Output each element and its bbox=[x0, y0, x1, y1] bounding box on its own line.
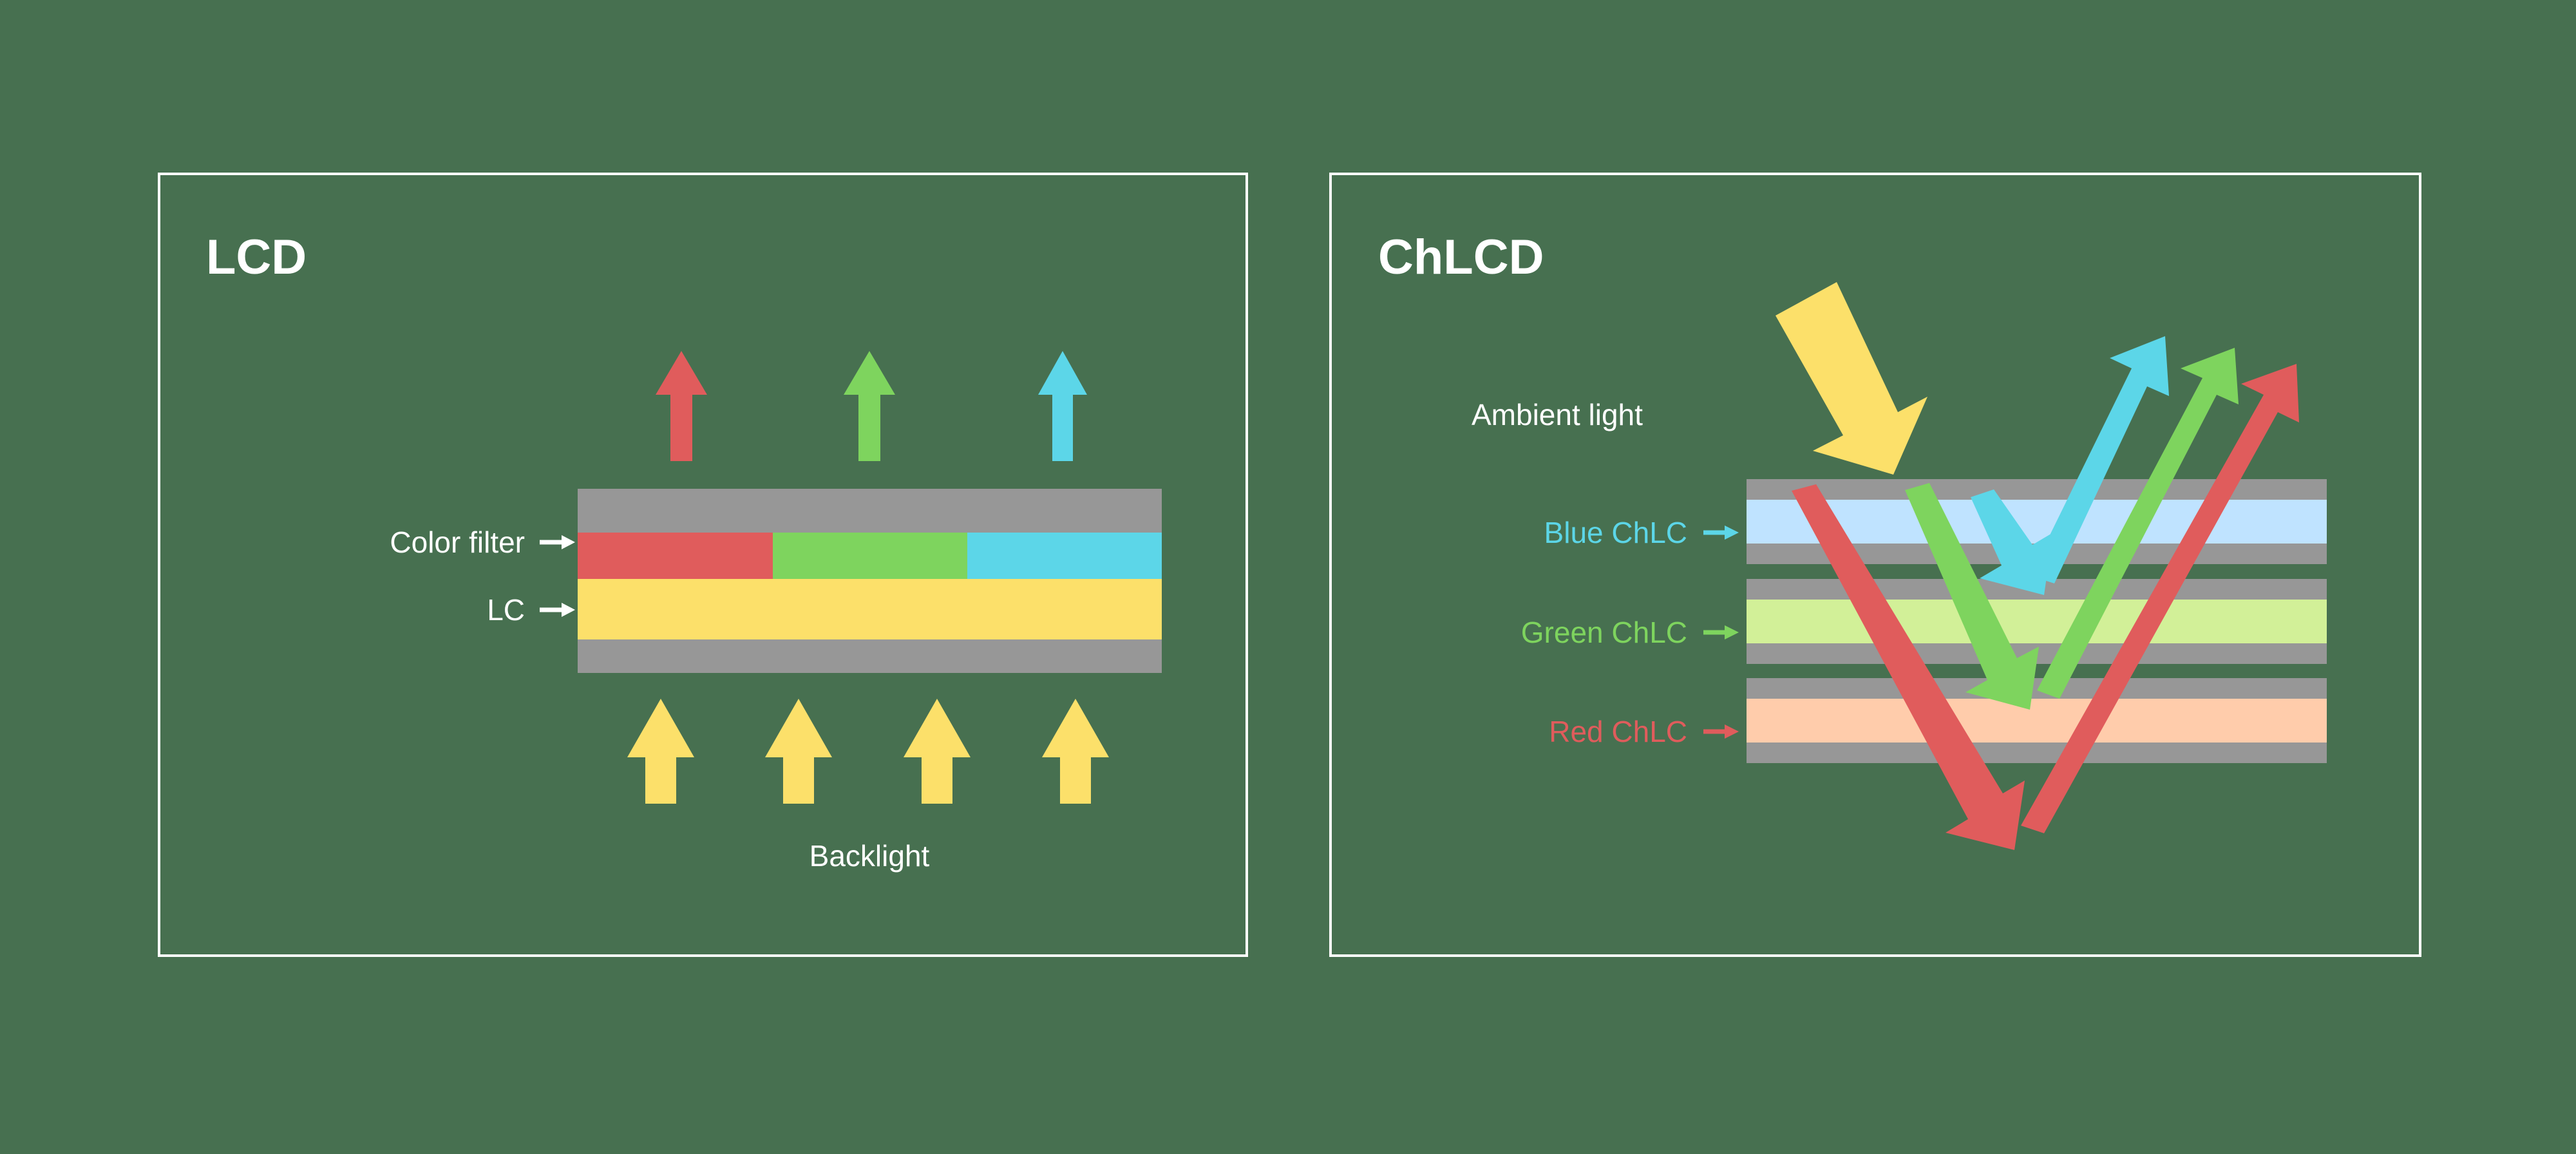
red-chlc-layer bbox=[1747, 699, 2327, 743]
red-chlc-arrow-icon bbox=[1703, 724, 1739, 739]
red-chlc-label: Red ChLC bbox=[1549, 715, 1687, 748]
panel-chlcd: ChLCD Ambient light bbox=[1331, 174, 2420, 956]
chlcd-panel-frame bbox=[1331, 174, 2420, 956]
lcd-color-filter-red-segment bbox=[578, 533, 773, 579]
green-chlc-layer bbox=[1747, 600, 2327, 643]
backlight-label: Backlight bbox=[810, 839, 930, 873]
color-filter-label: Color filter bbox=[390, 525, 525, 559]
lcd-bottom-electrode-layer bbox=[578, 639, 1162, 673]
backlight-arrow-3 bbox=[904, 699, 971, 804]
backlight-arrow-2 bbox=[765, 699, 832, 804]
lcd-color-filter-green-segment bbox=[773, 533, 967, 579]
lc-annotation: LC bbox=[487, 593, 575, 627]
lc-arrow-icon bbox=[540, 603, 575, 617]
diagram-canvas: LCD Color filter bbox=[0, 0, 2576, 1154]
color-filter-arrow-icon bbox=[540, 535, 575, 549]
green-chlc-annotation: Green ChLC bbox=[1521, 616, 1739, 649]
blue-cell-top-electrode bbox=[1747, 479, 2327, 500]
blue-chlc-annotation: Blue ChLC bbox=[1544, 516, 1739, 549]
backlight-arrow-4 bbox=[1042, 699, 1109, 804]
green-chlc-label: Green ChLC bbox=[1521, 616, 1687, 649]
lcd-emitted-light-group bbox=[656, 351, 1087, 461]
red-cell-bottom-electrode bbox=[1747, 743, 2327, 763]
backlight-arrow-1 bbox=[627, 699, 694, 804]
panel-lcd: LCD Color filter bbox=[159, 174, 1247, 956]
lcd-panel-title: LCD bbox=[206, 230, 307, 285]
backlight-arrow-group bbox=[627, 699, 1109, 804]
color-filter-annotation: Color filter bbox=[390, 525, 575, 559]
lc-label: LC bbox=[487, 593, 525, 627]
lcd-top-electrode-layer bbox=[578, 489, 1162, 533]
blue-chlc-arrow-icon bbox=[1703, 525, 1739, 540]
blue-output-arrow bbox=[1038, 351, 1087, 461]
lcd-color-filter-blue-segment bbox=[967, 533, 1162, 579]
ambient-light-label: Ambient light bbox=[1472, 398, 1643, 431]
red-output-arrow bbox=[656, 351, 707, 461]
red-chlc-annotation: Red ChLC bbox=[1549, 715, 1739, 748]
green-output-arrow bbox=[844, 351, 895, 461]
red-cell-top-electrode bbox=[1747, 678, 2327, 699]
chlcd-panel-title: ChLCD bbox=[1378, 230, 1544, 285]
ambient-light-arrow bbox=[1776, 282, 1927, 475]
green-chlc-arrow-icon bbox=[1703, 625, 1739, 639]
lcd-liquid-crystal-layer bbox=[578, 579, 1162, 639]
diagram-root: LCD Color filter bbox=[0, 0, 2576, 1154]
red-chlc-cell bbox=[1747, 678, 2327, 763]
blue-chlc-label: Blue ChLC bbox=[1544, 516, 1687, 549]
lcd-layer-stack bbox=[578, 489, 1162, 673]
